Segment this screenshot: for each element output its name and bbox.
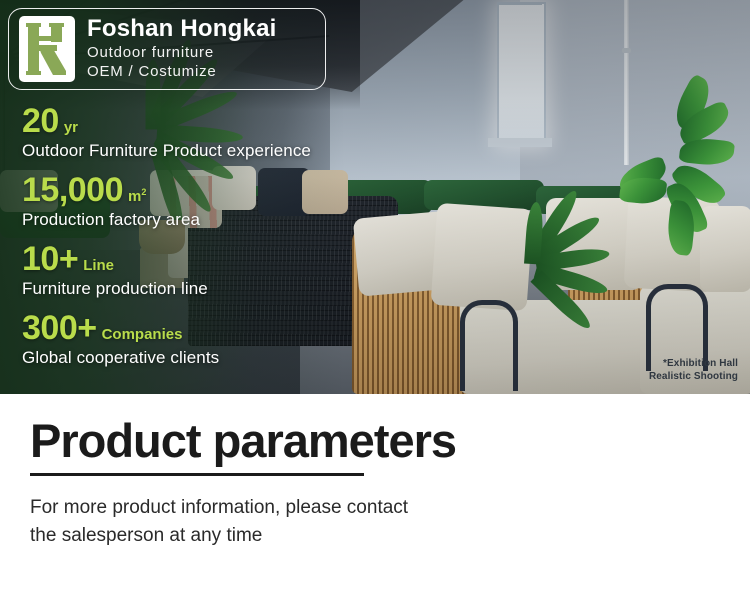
stat-description: Global cooperative clients	[22, 348, 422, 368]
subtitle-line2: the salesperson at any time	[30, 522, 460, 550]
stat-item: 15,000 m2 Production factory area	[22, 173, 422, 230]
hero-banner: Foshan Hongkai Outdoor furniture OEM / C…	[0, 0, 750, 394]
stat-headline: 300+ Companies	[22, 311, 422, 345]
subtitle-line1: For more product information, please con…	[30, 494, 460, 522]
stat-unit: yr	[64, 120, 78, 135]
stat-unit-superscript: 2	[141, 187, 146, 197]
exhibition-note: *Exhibition Hall Realistic Shooting	[649, 358, 738, 384]
product-parameters-section: Product parameters For more product info…	[0, 394, 750, 591]
stat-number: 15,000	[22, 173, 123, 207]
fern-plant	[500, 228, 630, 378]
pole-joint	[622, 48, 631, 53]
company-stats-list: 20 yr Outdoor Furniture Product experien…	[22, 104, 422, 380]
section-subtitle: For more product information, please con…	[30, 494, 460, 549]
stat-unit: Line	[83, 258, 114, 273]
stat-item: 20 yr Outdoor Furniture Product experien…	[22, 104, 422, 161]
stat-unit-text: yr	[64, 119, 78, 136]
exhibition-note-line2: Realistic Shooting	[649, 371, 738, 384]
brand-tagline-line1: Outdoor furniture	[87, 44, 276, 62]
brand-tagline-line2: OEM / Costumize	[87, 63, 276, 81]
stat-unit: m2	[128, 188, 146, 204]
stat-item: 10+ Line Furniture production line	[22, 242, 422, 299]
stat-headline: 15,000 m2	[22, 173, 422, 207]
stat-unit-text: m	[128, 188, 141, 205]
stat-headline: 20 yr	[22, 104, 422, 138]
bottom-content: Product parameters For more product info…	[0, 394, 750, 549]
stat-description: Outdoor Furniture Product experience	[22, 141, 422, 161]
stat-headline: 10+ Line	[22, 242, 422, 276]
exhibition-note-line1: *Exhibition Hall	[649, 358, 738, 371]
brand-logo-card: Foshan Hongkai Outdoor furniture OEM / C…	[8, 8, 326, 90]
stat-description: Furniture production line	[22, 279, 422, 299]
window-sill	[488, 138, 552, 147]
stat-description: Production factory area	[22, 210, 422, 230]
page-title: Product parameters	[30, 416, 750, 465]
stat-unit: Companies	[102, 327, 183, 342]
stat-number: 20	[22, 104, 59, 138]
stat-number: 10+	[22, 242, 78, 276]
support-pole	[624, 0, 629, 165]
title-underline-rule	[30, 473, 364, 476]
page-root: Foshan Hongkai Outdoor furniture OEM / C…	[0, 0, 750, 591]
banana-leaf-plant	[636, 96, 750, 276]
hongkai-monogram-logo-icon	[19, 16, 75, 82]
stat-number: 300+	[22, 311, 97, 345]
stat-item: 300+ Companies Global cooperative client…	[22, 311, 422, 368]
brand-name: Foshan Hongkai	[87, 17, 276, 41]
stat-unit-text: Companies	[102, 326, 183, 343]
brand-text-block: Foshan Hongkai Outdoor furniture OEM / C…	[87, 17, 276, 81]
stat-unit-text: Line	[83, 257, 114, 274]
